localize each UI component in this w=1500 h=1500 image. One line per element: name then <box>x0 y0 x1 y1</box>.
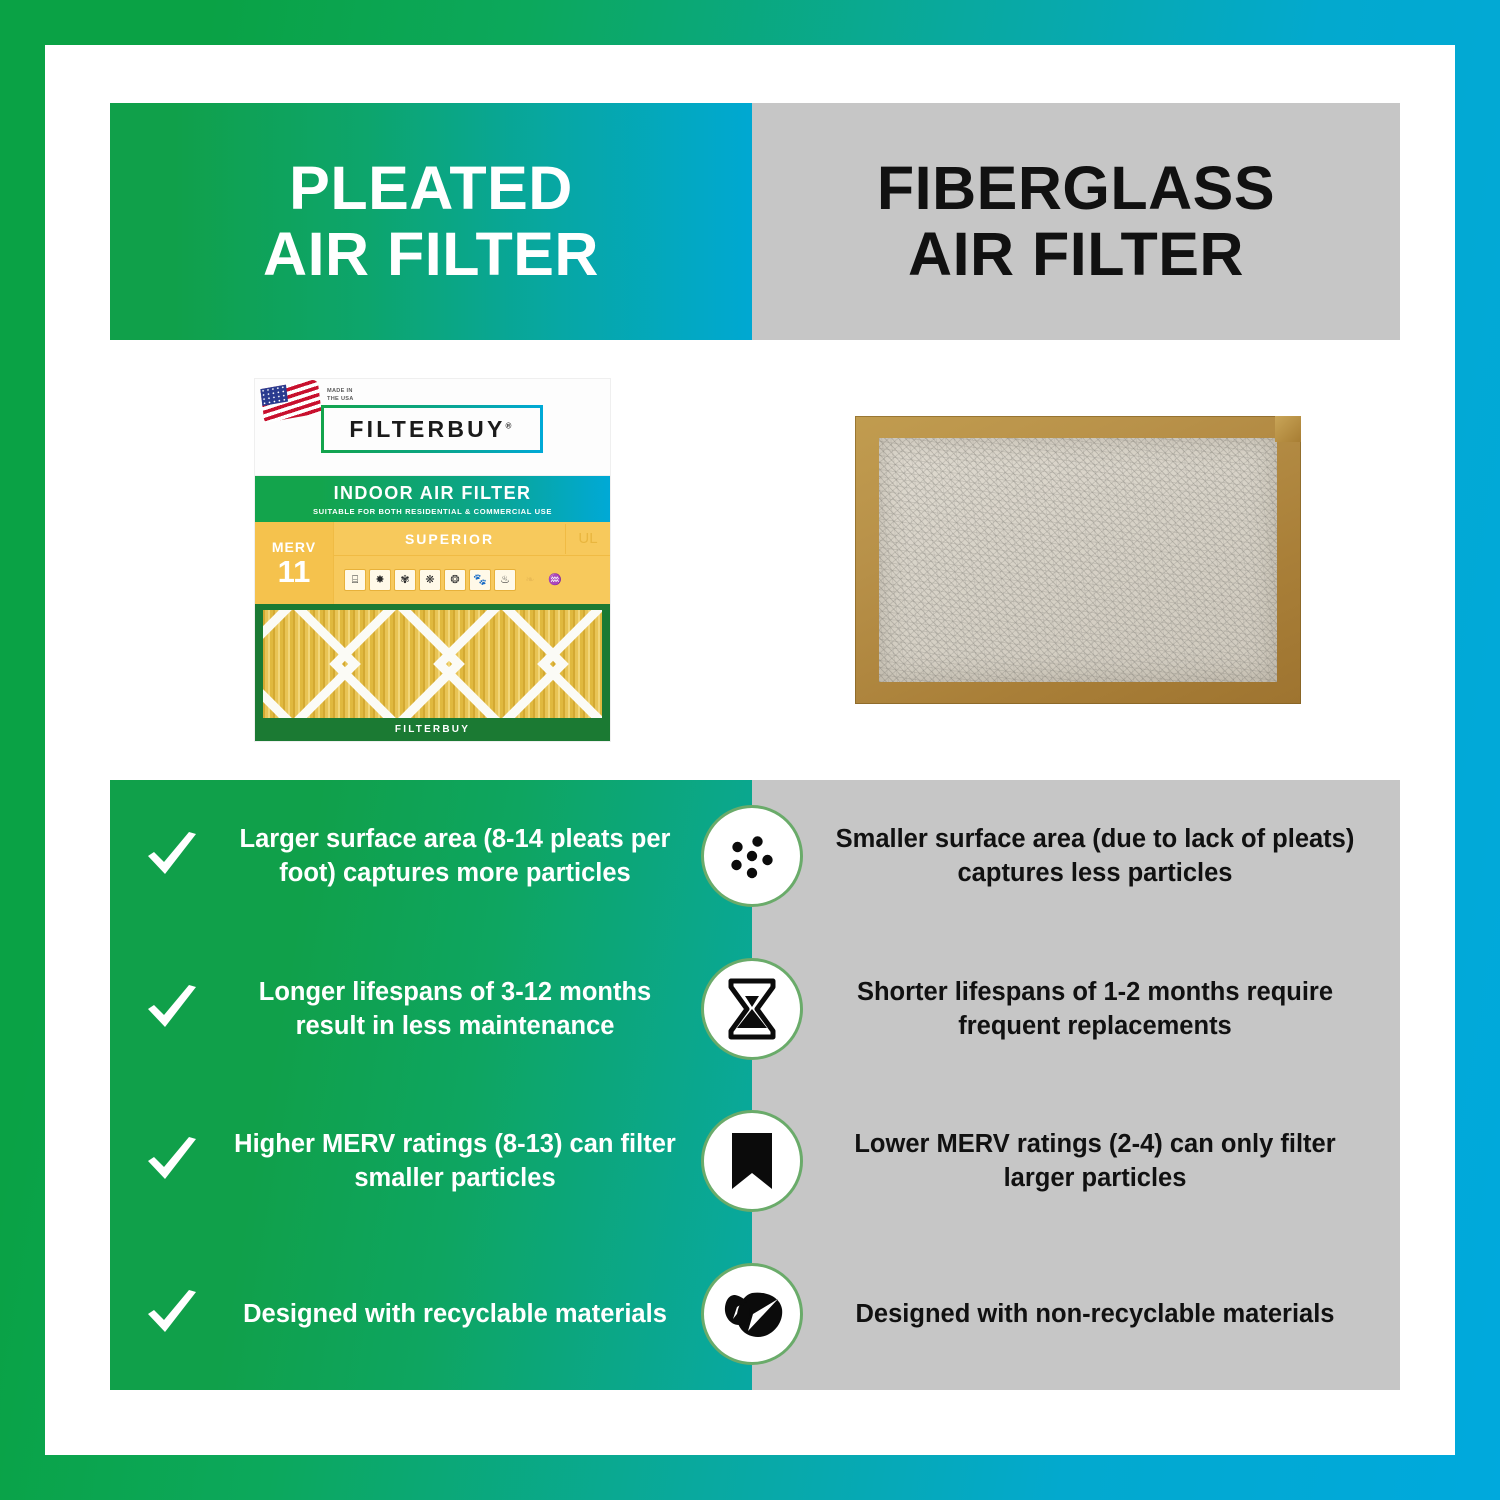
filterbuy-logo: FILTERBUY® <box>321 405 543 453</box>
row-left-text: Longer lifespans of 3-12 months result i… <box>222 975 688 1043</box>
row-right-text: Shorter lifespans of 1-2 months require … <box>752 975 1400 1043</box>
lint-icon: ✸ <box>369 569 391 591</box>
header-pleated-title: PLEATED AIR FILTER <box>263 156 599 288</box>
row-right-text: Smaller surface area (due to lack of ple… <box>752 822 1400 890</box>
table-row: Higher MERV ratings (8-13) can filter sm… <box>110 1085 1400 1238</box>
fiberglass-product-cell <box>755 340 1400 780</box>
checkmark-icon <box>144 1133 200 1189</box>
filterbuy-wordmark: FILTERBUY <box>349 416 505 442</box>
gold-pleat-texture <box>263 610 602 718</box>
registered-trademark-icon: ® <box>506 421 515 430</box>
merv-label: MERV <box>272 539 316 555</box>
infographic-page: PLEATED AIR FILTER FIBERGLASS AIR FILTER… <box>0 0 1500 1500</box>
row-left-cell: Longer lifespans of 3-12 months result i… <box>110 975 752 1043</box>
odor-icon-disabled: ♒ <box>544 569 566 591</box>
row-left-text: Higher MERV ratings (8-13) can filter sm… <box>222 1127 688 1195</box>
pleated-product-cell: MADE IN THE USA FILTERBUY® INDOOR AIR FI… <box>110 340 755 780</box>
tier-label: SUPERIOR <box>334 531 565 547</box>
row-right-text: Designed with non-recyclable materials <box>752 1297 1400 1331</box>
comparison-header: PLEATED AIR FILTER FIBERGLASS AIR FILTER <box>110 103 1400 340</box>
package-indoor-band: INDOOR AIR FILTER SUITABLE FOR BOTH RESI… <box>255 476 610 522</box>
dust-icon: ⌸ <box>344 569 366 591</box>
row-left-cell: Higher MERV ratings (8-13) can filter sm… <box>110 1127 752 1195</box>
leaves-icon <box>701 1263 803 1365</box>
row-left-cell: Larger surface area (8-14 pleats per foo… <box>110 822 752 890</box>
infographic-canvas: PLEATED AIR FILTER FIBERGLASS AIR FILTER… <box>45 45 1455 1455</box>
mold-spores-icon: ❋ <box>419 569 441 591</box>
pollen-icon: ✾ <box>394 569 416 591</box>
fiberglass-filter-image <box>855 416 1301 704</box>
bookmark-icon <box>701 1110 803 1212</box>
virus-icon-disabled: ❧ <box>519 569 541 591</box>
product-image-row: MADE IN THE USA FILTERBUY® INDOOR AIR FI… <box>110 340 1400 780</box>
usa-flag-icon <box>260 379 321 423</box>
checkmark-icon <box>144 828 200 884</box>
table-row: Longer lifespans of 3-12 months result i… <box>110 933 1400 1086</box>
pet-dander-icon: 🐾 <box>469 569 491 591</box>
package-top-panel: MADE IN THE USA FILTERBUY® <box>255 379 610 476</box>
support-diamond <box>537 610 602 718</box>
checkmark-icon <box>144 1286 200 1342</box>
package-band-title: INDOOR AIR FILTER <box>334 483 532 504</box>
header-pleated: PLEATED AIR FILTER <box>110 103 752 340</box>
package-merv-panel: MERV 11 SUPERIOR UL ⌸ ✸ ✾ <box>255 522 610 604</box>
pleated-media-photo: FILTERBUY <box>255 604 610 741</box>
bacteria-icon: ❂ <box>444 569 466 591</box>
row-left-text: Designed with recyclable materials <box>222 1297 688 1331</box>
fiberglass-media-texture <box>879 438 1277 682</box>
made-in-usa-label: MADE IN THE USA <box>327 387 354 403</box>
merv-value: 11 <box>278 556 311 587</box>
row-right-text: Lower MERV ratings (2-4) can only filter… <box>752 1127 1400 1195</box>
frame-corner-joint <box>1275 416 1301 442</box>
ul-certification-icon: UL <box>565 524 610 554</box>
header-fiberglass: FIBERGLASS AIR FILTER <box>752 103 1400 340</box>
table-row: Designed with recyclable materials Desig… <box>110 1238 1400 1391</box>
merv-block: MERV 11 <box>255 522 334 604</box>
package-feature-icons: ⌸ ✸ ✾ ❋ ❂ 🐾 ♨ ❧ ♒ <box>334 556 610 604</box>
checkmark-icon <box>144 981 200 1037</box>
filterbuy-package-image: MADE IN THE USA FILTERBUY® INDOOR AIR FI… <box>255 379 610 741</box>
smoke-icon: ♨ <box>494 569 516 591</box>
comparison-table: Larger surface area (8-14 pleats per foo… <box>110 780 1400 1390</box>
package-band-subtitle: SUITABLE FOR BOTH RESIDENTIAL & COMMERCI… <box>313 507 552 516</box>
table-row: Larger surface area (8-14 pleats per foo… <box>110 780 1400 933</box>
package-footer-brand: FILTERBUY <box>255 718 610 741</box>
header-fiberglass-title: FIBERGLASS AIR FILTER <box>877 156 1275 288</box>
hourglass-icon <box>701 958 803 1060</box>
row-left-cell: Designed with recyclable materials <box>110 1286 752 1342</box>
row-left-text: Larger surface area (8-14 pleats per foo… <box>222 822 688 890</box>
particles-icon <box>701 805 803 907</box>
